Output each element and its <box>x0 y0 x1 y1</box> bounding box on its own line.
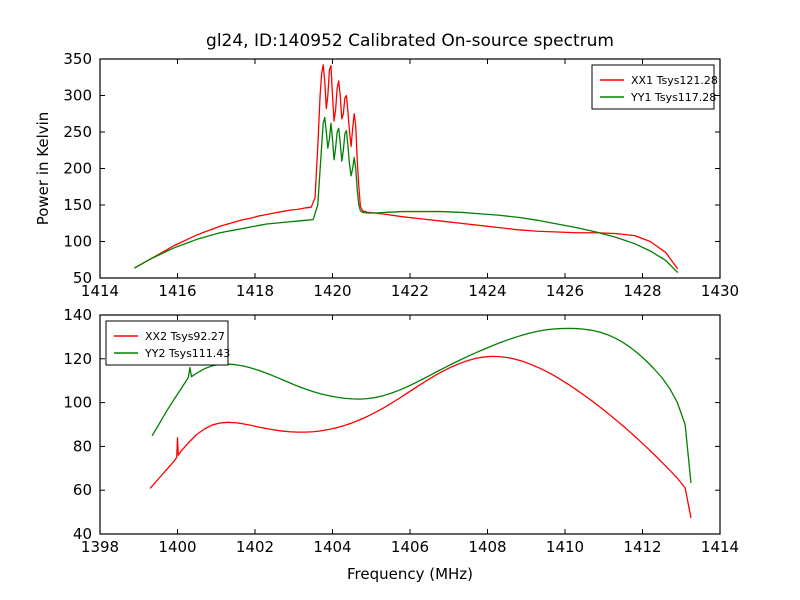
y-tick-label: 250 <box>63 123 92 141</box>
y-tick-label: 300 <box>63 87 92 105</box>
matplotlib-figure: gl24, ID:140952 Calibrated On-source spe… <box>0 0 800 600</box>
legend-top-panel: XX1 Tsys121.28YY1 Tsys117.28 <box>592 65 718 109</box>
y-tick-label: 60 <box>73 481 92 499</box>
figure-title: gl24, ID:140952 Calibrated On-source spe… <box>206 31 614 51</box>
legend-label: YY1 Tsys117.28 <box>630 91 716 104</box>
x-tick-label: 1402 <box>236 538 274 556</box>
y-tick-label: 100 <box>63 233 92 251</box>
y-tick-label: 100 <box>63 394 92 412</box>
legend-label: YY2 Tsys111.43 <box>144 347 230 360</box>
x-tick-label: 1414 <box>701 538 739 556</box>
y-tick-label: 350 <box>63 50 92 68</box>
y-tick-label: 150 <box>63 196 92 214</box>
x-tick-label: 1420 <box>313 282 351 300</box>
legend-label: XX1 Tsys121.28 <box>631 74 718 87</box>
legend-label: XX2 Tsys92.27 <box>145 330 225 343</box>
x-tick-label: 1424 <box>468 282 506 300</box>
y-tick-label: 200 <box>63 160 92 178</box>
panel-bottom-panel: 1398140014021404140614081410141214144060… <box>63 306 739 583</box>
x-tick-label: 1416 <box>158 282 196 300</box>
panel-top-panel: 1414141614181420142214241426142814305010… <box>34 50 739 300</box>
legend-bottom-panel: XX2 Tsys92.27YY2 Tsys111.43 <box>106 321 230 365</box>
x-axis-label: Frequency (MHz) <box>347 565 473 583</box>
y-axis-label: Power in Kelvin <box>34 112 52 226</box>
x-tick-label: 1426 <box>546 282 584 300</box>
x-tick-label: 1412 <box>623 538 661 556</box>
figure-canvas: gl24, ID:140952 Calibrated On-source spe… <box>0 0 800 600</box>
x-tick-label: 1428 <box>623 282 661 300</box>
y-tick-label: 120 <box>63 350 92 368</box>
x-tick-label: 1406 <box>391 538 429 556</box>
y-tick-label: 40 <box>73 525 92 543</box>
x-tick-label: 1418 <box>236 282 274 300</box>
y-tick-label: 80 <box>73 437 92 455</box>
x-tick-label: 1408 <box>468 538 506 556</box>
x-tick-label: 1400 <box>158 538 196 556</box>
x-tick-label: 1422 <box>391 282 429 300</box>
y-tick-label: 50 <box>73 269 92 287</box>
series-line-yy2 <box>152 328 691 482</box>
x-tick-label: 1404 <box>313 538 351 556</box>
y-tick-label: 140 <box>63 306 92 324</box>
series-line-yy1 <box>135 117 678 272</box>
x-tick-label: 1410 <box>546 538 584 556</box>
x-tick-label: 1430 <box>701 282 739 300</box>
data-layer <box>150 328 691 517</box>
